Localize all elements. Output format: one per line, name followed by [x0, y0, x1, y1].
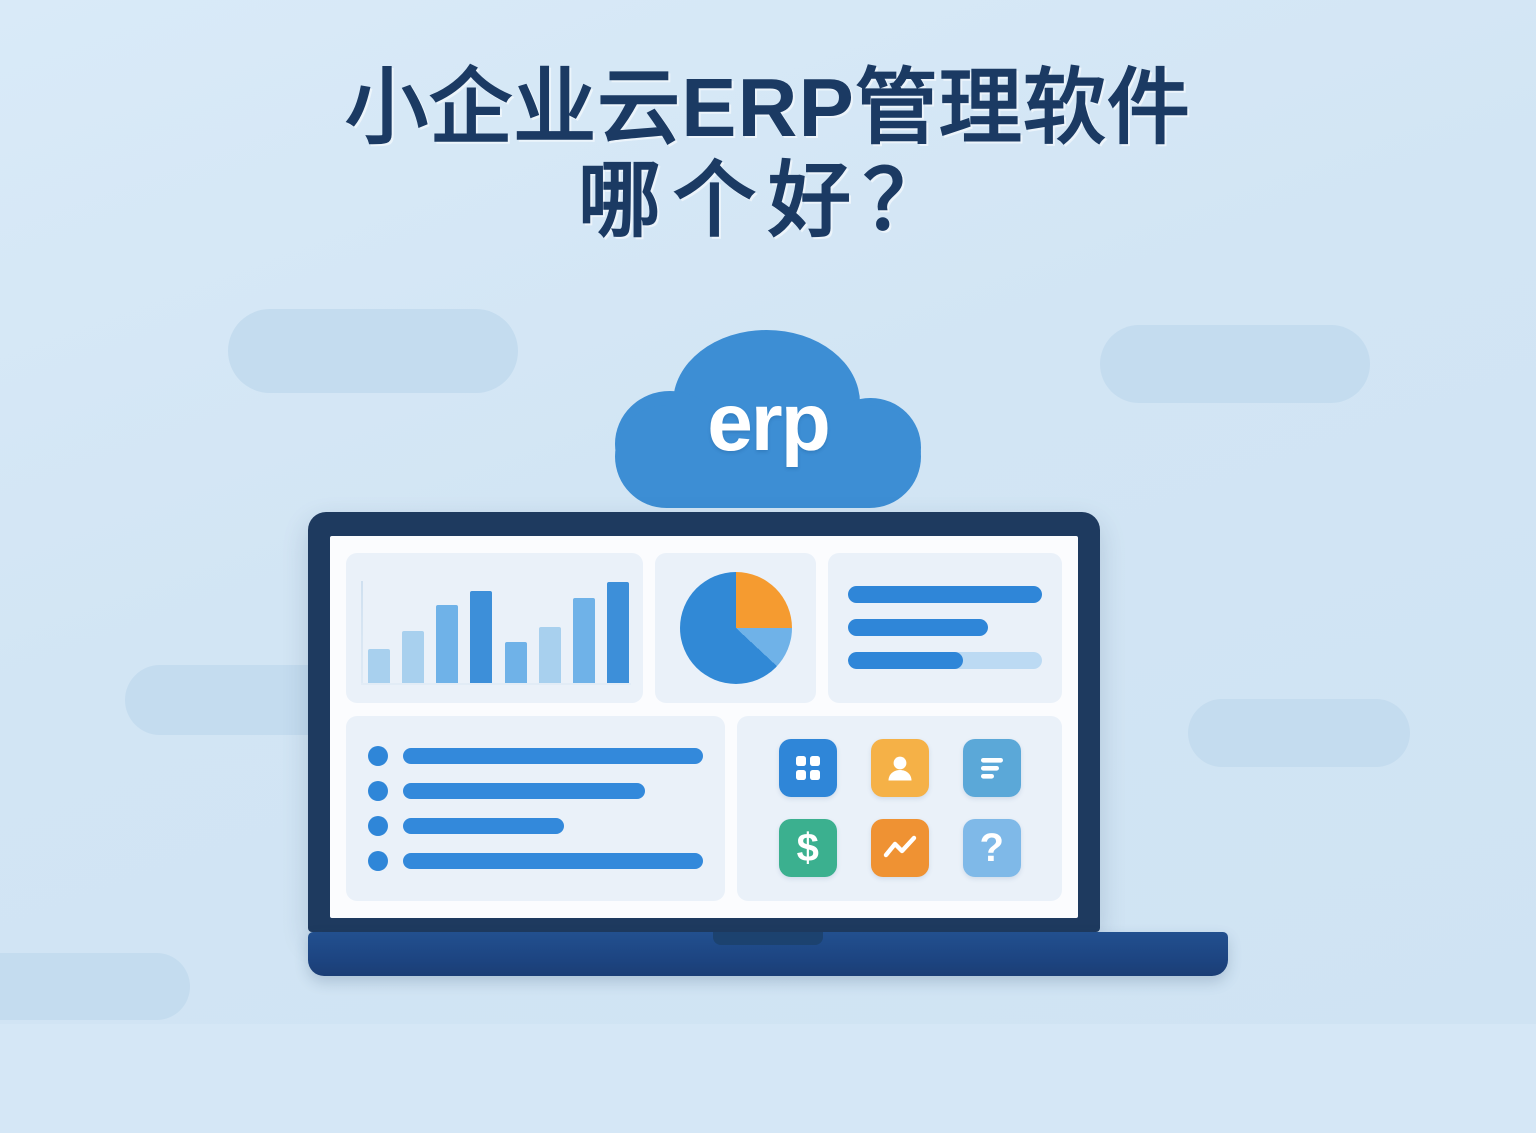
- bar-3: [436, 605, 458, 683]
- page-title: 小企业云ERP管理软件 哪个好？: [0, 62, 1536, 248]
- page-title-line-2: 哪个好？: [0, 155, 1536, 248]
- list-item[interactable]: [368, 746, 703, 766]
- bar-6: [539, 627, 561, 683]
- list-item[interactable]: [368, 816, 703, 836]
- status-line-2: [848, 619, 988, 636]
- question-glyph: ?: [980, 828, 1004, 868]
- bullet-item-4: [403, 853, 703, 869]
- status-list-panel[interactable]: [828, 553, 1062, 703]
- bar-1: [368, 649, 390, 682]
- bar-5: [505, 642, 527, 682]
- user-icon[interactable]: [871, 739, 929, 797]
- bullet-item-1: [403, 748, 703, 764]
- bullet-dot-icon: [368, 851, 388, 871]
- list-item[interactable]: [368, 851, 703, 871]
- pie-chart: [680, 572, 792, 684]
- bar-chart-y-axis: [361, 581, 363, 684]
- status-progress-fill: [848, 652, 962, 669]
- status-line-1: [848, 586, 1042, 603]
- laptop-illustration: $ ?: [308, 512, 1228, 976]
- bar-chart-x-axis: [361, 683, 631, 685]
- decorative-cloud-icon: [1100, 263, 1370, 403]
- laptop-base: [308, 932, 1228, 976]
- bar-chart-bars: [368, 571, 629, 683]
- list-item[interactable]: [368, 781, 703, 801]
- bar-4: [470, 591, 492, 683]
- bar-2: [402, 631, 424, 682]
- status-progress[interactable]: [848, 652, 1042, 669]
- laptop-lid: $ ?: [308, 512, 1100, 932]
- decorative-cloud-icon: [228, 243, 518, 393]
- icon-grid: $ ?: [779, 739, 1021, 877]
- bar-chart: [358, 567, 631, 693]
- bullet-item-3: [403, 818, 564, 834]
- erp-cloud-logo: erp: [615, 330, 921, 508]
- bullet-dot-icon: [368, 816, 388, 836]
- dashboard-row-bottom: $ ?: [346, 716, 1062, 901]
- bar-8: [607, 582, 629, 682]
- dollar-glyph: $: [797, 828, 819, 868]
- decorative-cloud-icon: [0, 900, 190, 1020]
- bullet-list-panel[interactable]: [346, 716, 725, 901]
- bullet-dot-icon: [368, 781, 388, 801]
- document-icon[interactable]: [963, 739, 1021, 797]
- erp-logo-text: erp: [615, 376, 921, 470]
- bar-7: [573, 598, 595, 683]
- pie-chart-panel[interactable]: [655, 553, 816, 703]
- laptop-screen: $ ?: [330, 536, 1078, 918]
- bullet-dot-icon: [368, 746, 388, 766]
- grid-icon[interactable]: [779, 739, 837, 797]
- icon-grid-panel[interactable]: $ ?: [737, 716, 1062, 901]
- bar-chart-panel[interactable]: [346, 553, 643, 703]
- bullet-item-2: [403, 783, 645, 799]
- dashboard-row-top: [346, 553, 1062, 703]
- help-icon[interactable]: ?: [963, 819, 1021, 877]
- dollar-icon[interactable]: $: [779, 819, 837, 877]
- laptop-base-notch: [713, 932, 823, 945]
- trend-icon[interactable]: [871, 819, 929, 877]
- page-title-line-1: 小企业云ERP管理软件: [0, 62, 1536, 155]
